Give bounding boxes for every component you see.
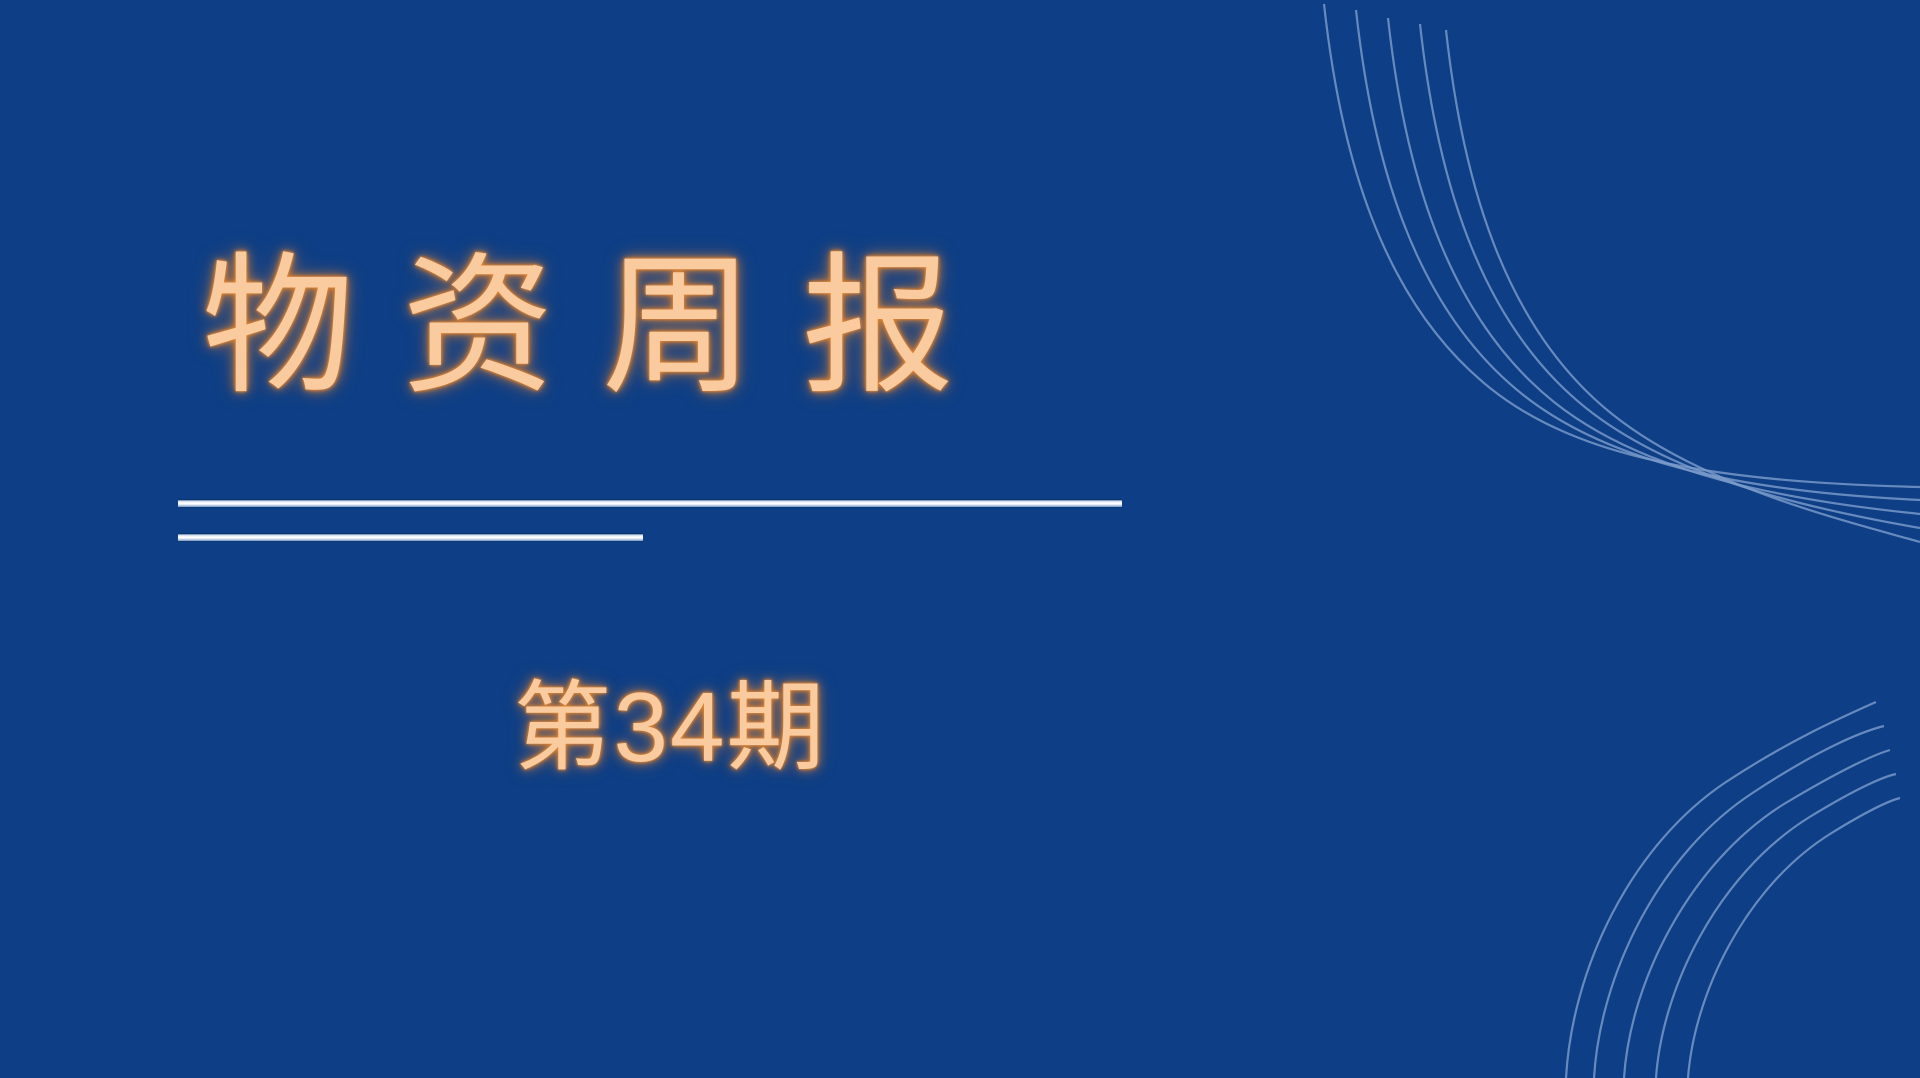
title-underline-long [178,499,1122,508]
issue-subtitle: 第34期 [0,648,1340,790]
cover-slide: 物资周报 第34期 [0,0,1920,1078]
page-title: 物资周报 [202,250,1378,405]
title-block: 物资周报 [178,250,1378,405]
title-underline-short [178,533,643,542]
swoosh-curves-bottom-right-icon [1280,598,1920,1078]
